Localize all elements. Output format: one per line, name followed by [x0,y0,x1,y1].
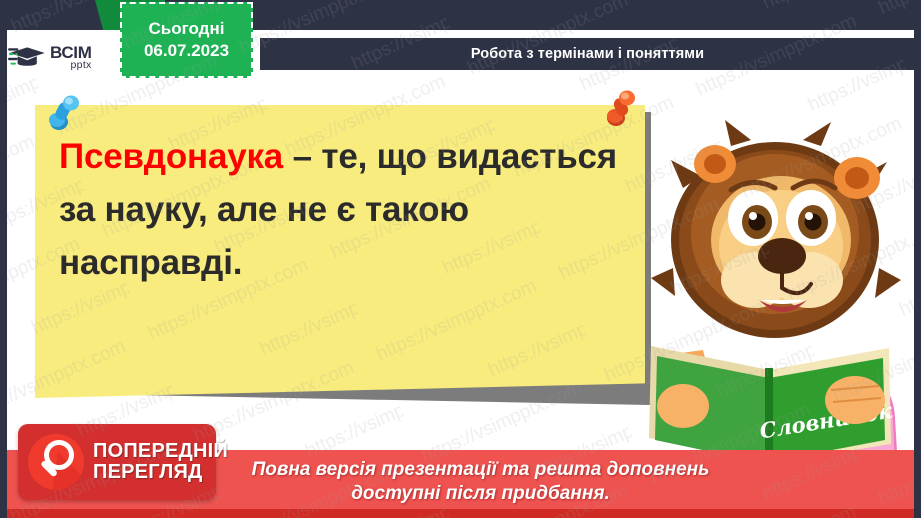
brand-logo: ВСІМ pptx [0,30,124,84]
graduation-cap-icon [8,41,48,73]
purchase-banner-line2: доступні після придбання. [351,483,610,504]
preview-badge-line1: ПОПЕРЕДНІЙ [93,441,228,462]
magnifier-icon [28,434,84,490]
definition-text: Псевдонаука – те, що видається за науку,… [59,130,629,290]
today-date-badge: Сьогодні 06.07.2023 [120,2,253,78]
logo-wordmark: ВСІМ pptx [50,44,92,71]
preview-badge-line2: ПЕРЕГЛЯД [93,462,228,483]
slide-canvas: ВСІМ pptx Сьогодні 06.07.2023 Робота з т… [0,0,921,518]
preview-badge[interactable]: ПОПЕРЕДНІЙ ПЕРЕГЛЯД [18,424,216,500]
purchase-banner-text: Повна версія презентації та решта доповн… [252,458,710,507]
page-title: Робота з термінами і поняттями [471,46,704,62]
purchase-banner-line1: Повна версія презентації та решта доповн… [252,459,710,480]
header-title-bar: Робота з термінами і поняттями [260,38,915,70]
pushpin-red-icon [605,88,641,128]
definition-keyword: Псевдонаука [59,137,283,176]
preview-badge-labels: ПОПЕРЕДНІЙ ПЕРЕГЛЯД [93,441,228,483]
today-label: Сьогодні [149,19,225,39]
lion-reading-icon: Словничок [643,118,921,468]
today-date: 06.07.2023 [144,41,229,61]
pushpin-blue-icon [45,92,81,132]
banner-bottom-strip [0,509,921,518]
